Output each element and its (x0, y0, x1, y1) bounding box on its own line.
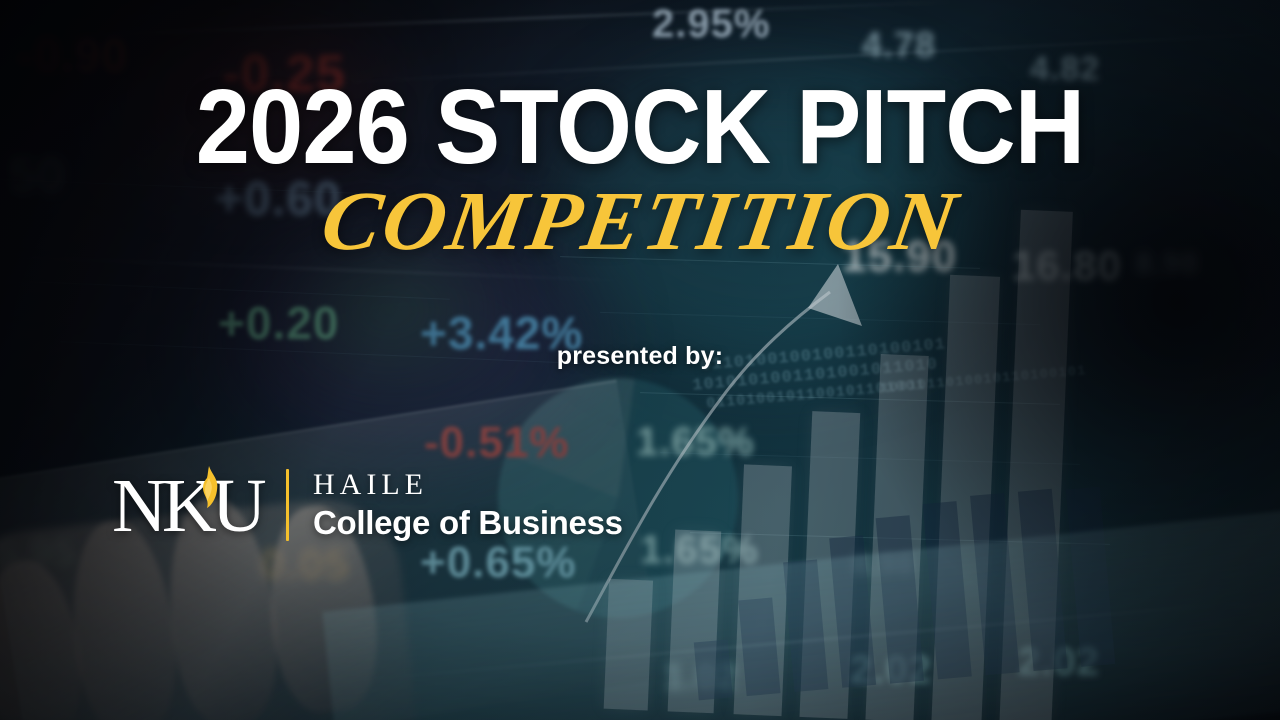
nku-letters: NKU (112, 468, 262, 544)
page-subtitle: COMPETITION (0, 180, 1280, 264)
poster-content: 2026 STOCK PITCH COMPETITION presented b… (0, 0, 1280, 720)
page-title: 2026 STOCK PITCH (51, 74, 1229, 180)
college-of-business-label: College of Business (313, 503, 623, 543)
nku-logo-text: HAILE College of Business (313, 468, 623, 543)
poster-canvas: -0.90-0.2550+0.602.95%4.784.82+0.20+3.42… (0, 0, 1280, 720)
presented-by-label: presented by: (0, 342, 1280, 371)
logo-divider (286, 469, 289, 541)
sponsor-logo-row: NKU HAILE College of Business (0, 450, 1280, 560)
flame-icon (197, 466, 221, 508)
haile-label: HAILE (313, 468, 623, 501)
nku-wordmark: NKU (112, 464, 264, 546)
nku-haile-logo: NKU HAILE College of Business (112, 450, 623, 560)
